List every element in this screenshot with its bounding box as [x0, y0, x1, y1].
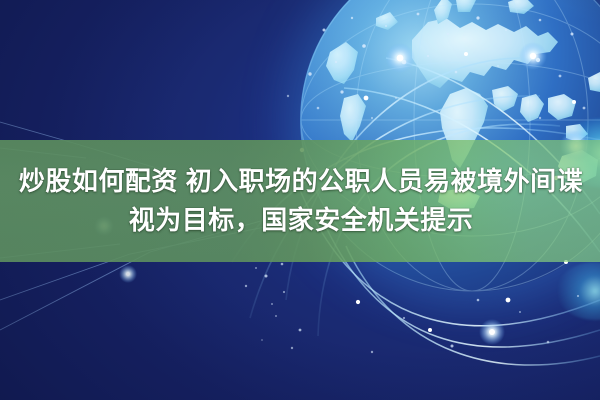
banner-image: 炒股如何配资 初入职场的公职人员易被境外间谍 视为目标，国家安全机关提示 — [0, 0, 600, 400]
headline-line-1: 炒股如何配资 初入职场的公职人员易被境外间谍 — [17, 164, 583, 199]
headline-block: 炒股如何配资 初入职场的公职人员易被境外间谍 视为目标，国家安全机关提示 — [0, 140, 600, 262]
headline-line-2: 视为目标，国家安全机关提示 — [127, 203, 474, 238]
